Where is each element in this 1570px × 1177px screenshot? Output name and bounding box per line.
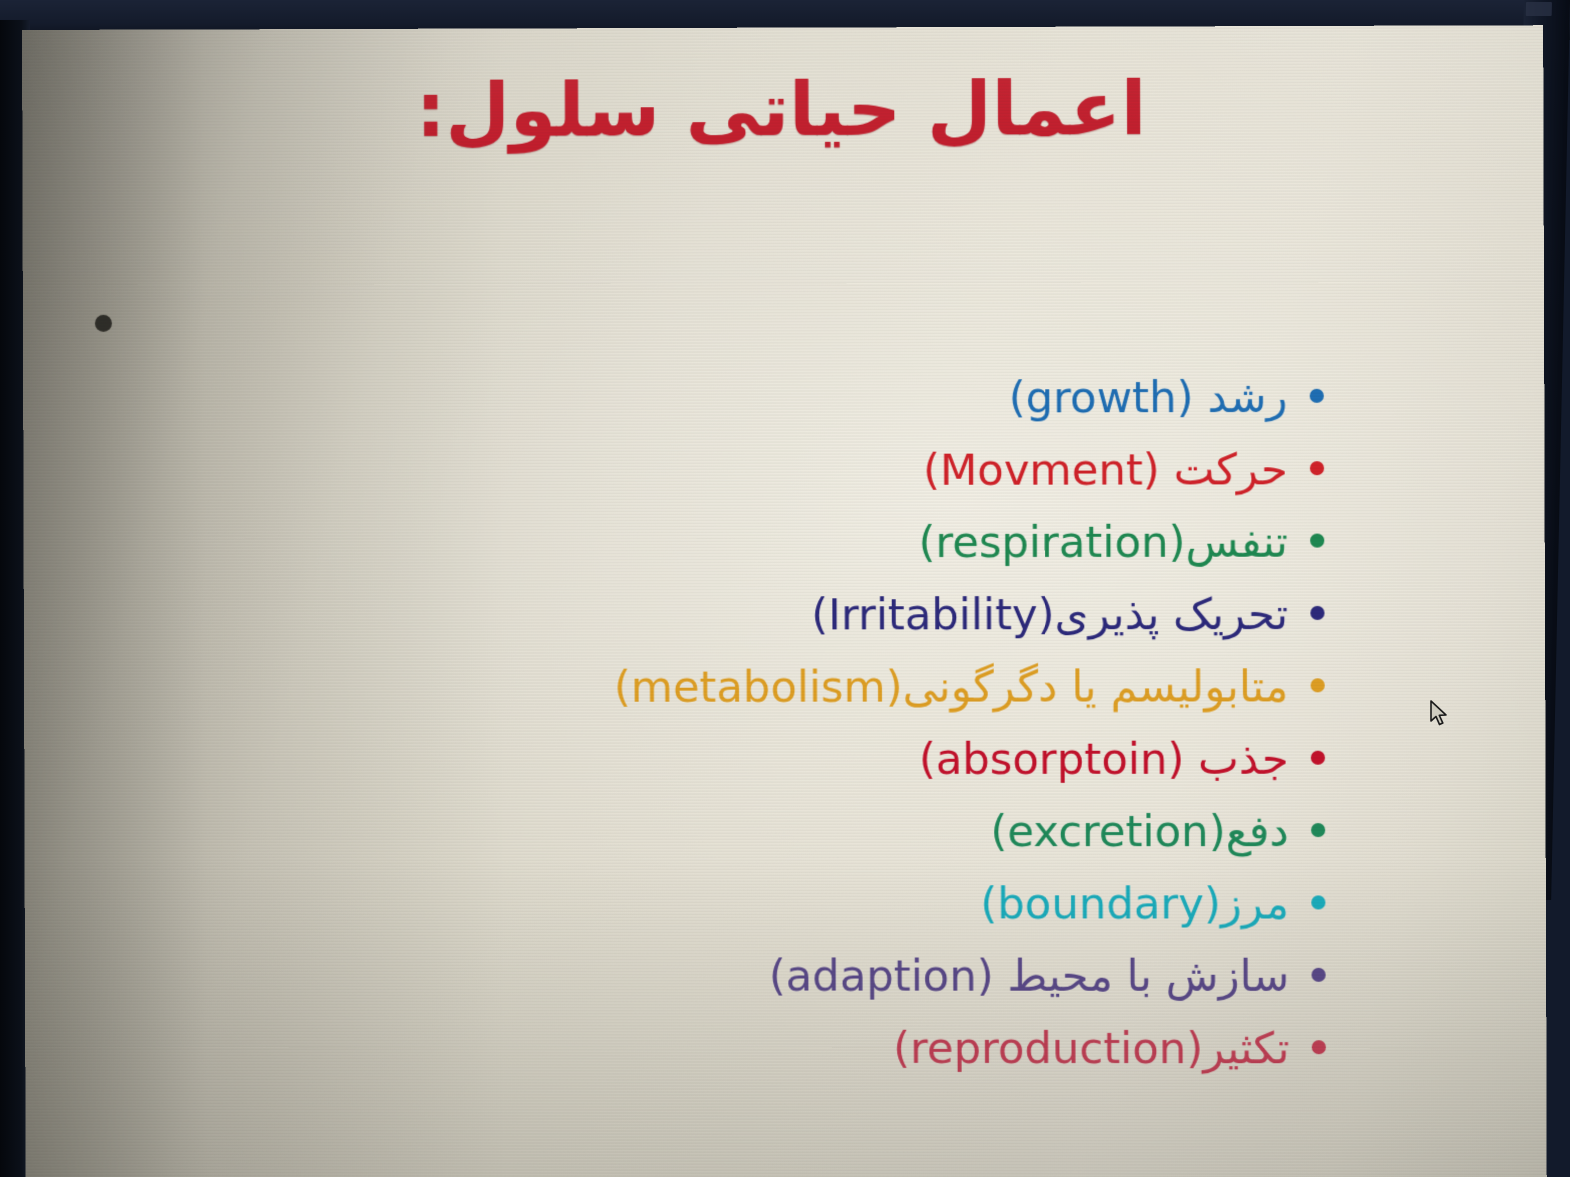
list-item-label: رشد (growth) bbox=[1009, 365, 1288, 432]
list-item-label: حرکت (Movment) bbox=[923, 437, 1288, 504]
list-item-label: جذب (absorptoin) bbox=[919, 727, 1289, 793]
list-item: مرز(boundary) bbox=[145, 871, 1326, 942]
list-item: جذب (absorptoin) bbox=[144, 727, 1325, 797]
list-item: متابولیسم یا دگرگونی(metabolism) bbox=[144, 654, 1325, 725]
list-item-label: مرز(boundary) bbox=[980, 871, 1289, 937]
list-item: تنفس(respiration) bbox=[144, 509, 1325, 580]
list-item: سازش با محیط (adaption) bbox=[145, 943, 1326, 1014]
bullet-dot-icon bbox=[1311, 968, 1325, 982]
list-item-label: تحریک پذیری(Irritability) bbox=[811, 582, 1288, 649]
list-item: تکثیر(reproduction) bbox=[145, 1015, 1326, 1086]
slide-content: اعمال حیاتی سلول: رشد (growth) حرکت (Mov… bbox=[22, 25, 1547, 1177]
bullet-dot-icon bbox=[1310, 534, 1324, 548]
list-item-label: تکثیر(reproduction) bbox=[893, 1016, 1290, 1083]
screenshot-root: اعمال حیاتی سلول: رشد (growth) حرکت (Mov… bbox=[0, 0, 1570, 1177]
vital-functions-list: رشد (growth) حرکت (Movment) تنفس(respira… bbox=[143, 365, 1326, 1089]
list-item: تحریک پذیری(Irritability) bbox=[144, 582, 1325, 653]
list-item: دفع(excretion) bbox=[144, 799, 1325, 869]
list-item: حرکت (Movment) bbox=[143, 437, 1324, 509]
bullet-dot-icon bbox=[1310, 389, 1324, 403]
bullet-dot-icon bbox=[1312, 1040, 1326, 1054]
list-item-label: سازش با محیط (adaption) bbox=[769, 943, 1290, 1010]
list-item: رشد (growth) bbox=[143, 365, 1324, 437]
bullet-dot-icon bbox=[1311, 823, 1325, 837]
bullet-dot-icon bbox=[1311, 895, 1325, 909]
bullet-dot-icon bbox=[1310, 461, 1324, 475]
presentation-slide: اعمال حیاتی سلول: رشد (growth) حرکت (Mov… bbox=[22, 25, 1547, 1177]
bullet-dot-icon bbox=[1310, 606, 1324, 620]
empty-bullet-marker bbox=[95, 315, 112, 332]
bullet-dot-icon bbox=[1311, 678, 1325, 692]
slide-title: اعمال حیاتی سلول: bbox=[22, 61, 1543, 158]
list-item-label: متابولیسم یا دگرگونی(metabolism) bbox=[614, 654, 1289, 721]
bezel-indicator-mark bbox=[1526, 2, 1552, 16]
list-item-label: تنفس(respiration) bbox=[918, 509, 1288, 576]
list-item-label: دفع(excretion) bbox=[990, 799, 1289, 865]
bullet-dot-icon bbox=[1311, 751, 1325, 765]
